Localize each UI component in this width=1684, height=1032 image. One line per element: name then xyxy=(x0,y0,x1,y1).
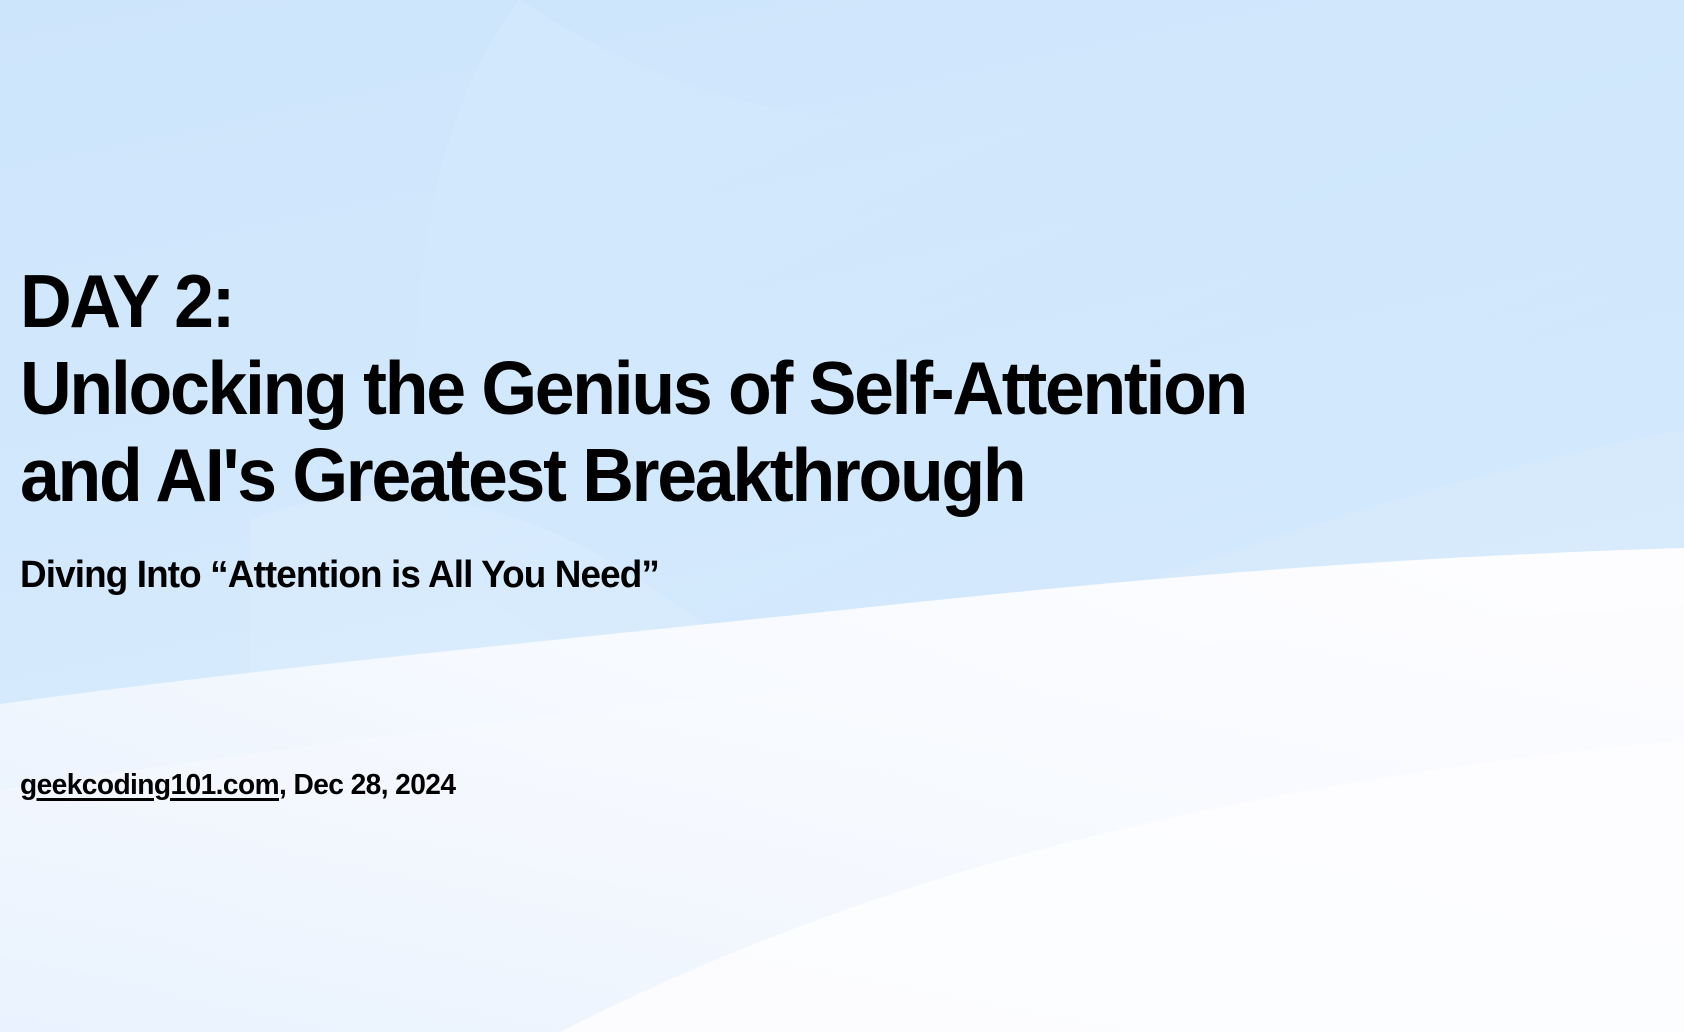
title-line-1: DAY 2: xyxy=(20,258,1605,345)
title-slide: DAY 2: Unlocking the Genius of Self-Atte… xyxy=(0,0,1684,1032)
page-title: DAY 2: Unlocking the Genius of Self-Atte… xyxy=(20,258,1680,519)
footer-date: , Dec 28, 2024 xyxy=(279,769,455,801)
site-link[interactable]: geekcoding101.com xyxy=(20,769,279,801)
title-line-2: Unlocking the Genius of Self-Attention xyxy=(20,345,1605,432)
subtitle: Diving Into “Attention is All You Need” xyxy=(20,552,659,598)
title-line-3: and AI's Greatest Breakthrough xyxy=(20,432,1605,519)
footer-byline: geekcoding101.com, Dec 28, 2024 xyxy=(20,766,455,804)
slide-content: DAY 2: Unlocking the Genius of Self-Atte… xyxy=(0,0,1684,1032)
